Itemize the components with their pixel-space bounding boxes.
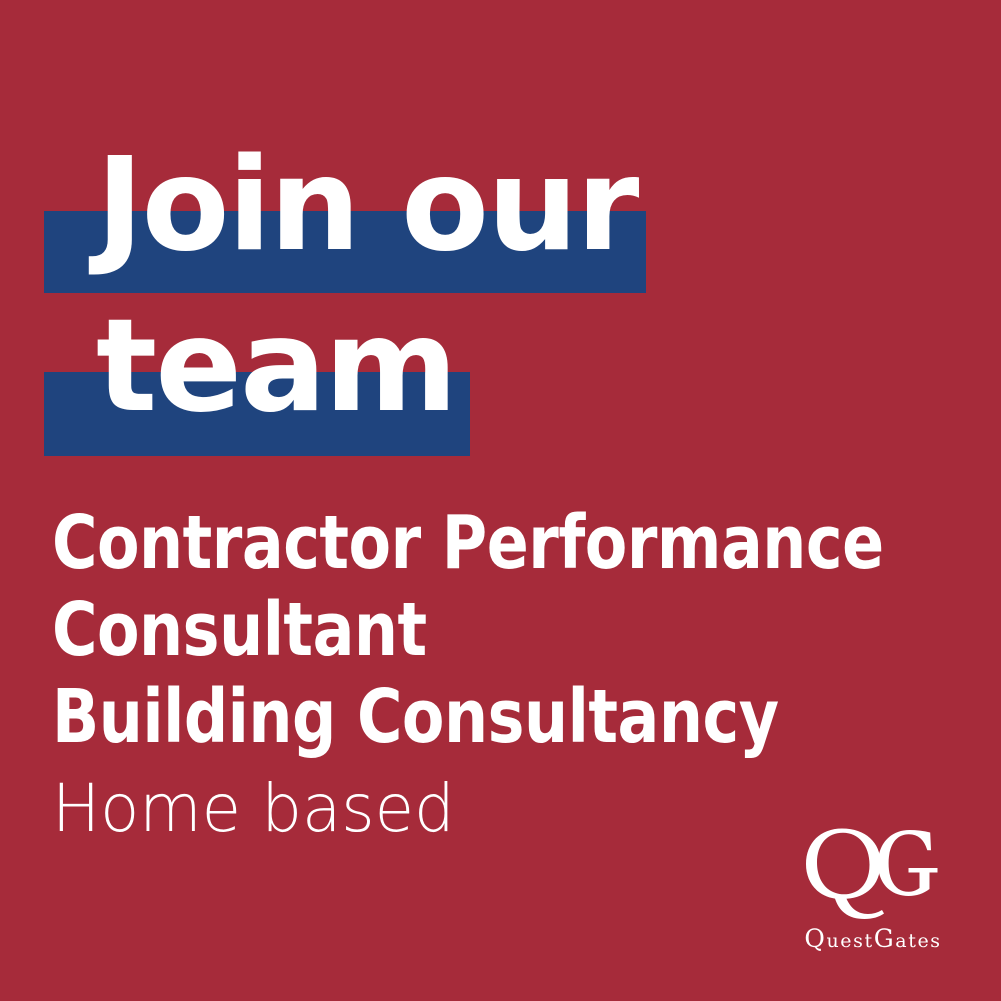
job-department: Building Consultancy: [52, 674, 884, 761]
recruitment-poster: Join our team Contractor Performance Con…: [0, 0, 1001, 1001]
questgates-logo: QuestGates: [787, 826, 959, 953]
questgates-wordmark: QuestGates: [787, 924, 959, 953]
job-details: Contractor Performance Consultant Buildi…: [52, 500, 946, 853]
wordmark-uest: uest: [826, 930, 873, 952]
job-title-line-1: Contractor Performance: [52, 500, 884, 587]
headline-line-1: Join our: [96, 142, 637, 270]
qg-monogram-icon: [787, 826, 959, 920]
wordmark-ates: ates: [895, 930, 941, 952]
wordmark-q: Q: [804, 924, 826, 953]
wordmark-g: G: [874, 924, 896, 953]
headline-line-2: team: [96, 303, 456, 431]
job-title-line-2: Consultant: [52, 587, 884, 674]
